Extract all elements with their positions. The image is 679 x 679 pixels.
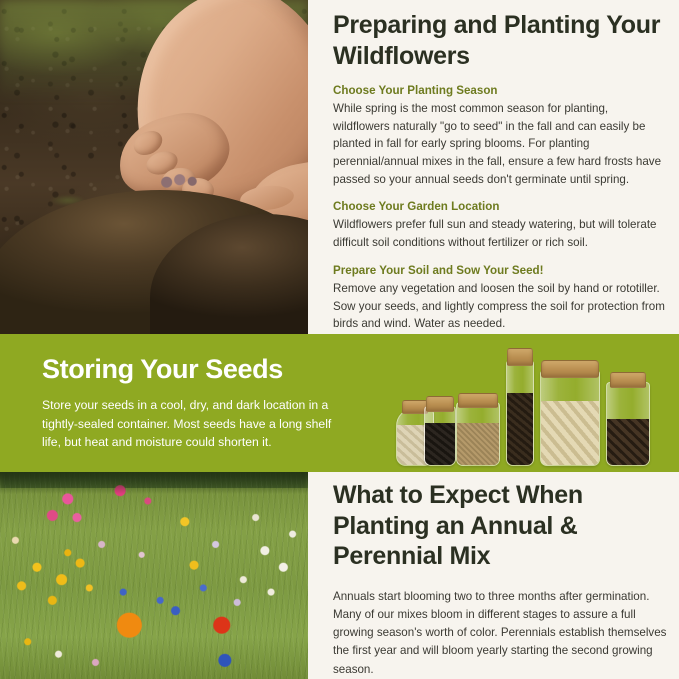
jar-pumpkin-seeds xyxy=(540,370,600,466)
cork-lid xyxy=(507,348,533,366)
cork-lid xyxy=(426,396,454,412)
jar-striped-seeds xyxy=(606,382,650,466)
subheading-prepare-soil: Prepare Your Soil and Sow Your Seed! xyxy=(333,263,667,279)
jar-black-seeds xyxy=(424,406,456,466)
jar-contents xyxy=(507,393,533,465)
jar-contents xyxy=(457,423,499,465)
wildflower-meadow-image xyxy=(0,472,308,679)
what-to-expect-section: What to Expect When Planting an Annual &… xyxy=(333,480,667,679)
infographic-page: Preparing and Planting Your Wildflowers … xyxy=(0,0,679,679)
subheading-garden-location: Choose Your Garden Location xyxy=(333,199,667,215)
body-prepare-soil: Remove any vegetation and loosen the soi… xyxy=(333,280,667,333)
meadow-background-shade xyxy=(0,472,308,494)
body-planting-season: While spring is the most common season f… xyxy=(333,100,667,188)
what-to-expect-title: What to Expect When Planting an Annual &… xyxy=(333,480,667,572)
jar-tan-seeds xyxy=(456,402,500,466)
subheading-planting-season: Choose Your Planting Season xyxy=(333,83,667,99)
cork-lid xyxy=(610,372,646,388)
hands-sowing-seeds-image xyxy=(0,0,308,334)
storing-seeds-body: Store your seeds in a cool, dry, and dar… xyxy=(42,396,332,452)
jar-contents xyxy=(425,423,455,465)
seed-jars-image xyxy=(388,356,672,466)
planting-section: Preparing and Planting Your Wildflowers … xyxy=(333,10,667,344)
jar-contents xyxy=(541,401,599,465)
meadow-flowers xyxy=(0,472,308,679)
storing-seeds-title: Storing Your Seeds xyxy=(42,355,342,385)
cork-lid xyxy=(541,360,599,378)
cork-lid xyxy=(458,393,498,408)
jar-contents xyxy=(607,419,649,465)
jar-tall-dark-seeds xyxy=(506,360,534,466)
what-to-expect-body: Annuals start blooming two to three mont… xyxy=(333,588,667,679)
planting-section-title: Preparing and Planting Your Wildflowers xyxy=(333,10,667,71)
body-garden-location: Wildflowers prefer full sun and steady w… xyxy=(333,216,667,251)
